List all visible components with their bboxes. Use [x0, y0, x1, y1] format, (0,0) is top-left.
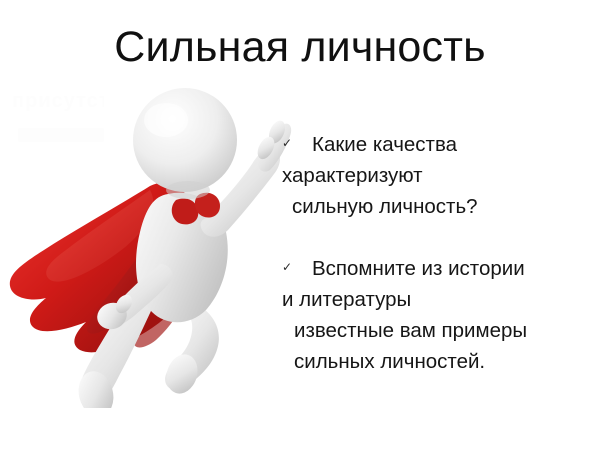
checkmark-bullet-icon: ✓ [282, 128, 312, 159]
head-highlight [144, 103, 188, 137]
bullet-line: характеризуют [282, 160, 594, 191]
bullet-line: и литературы [282, 284, 594, 315]
bullet-line: известные вам примеры [282, 315, 594, 346]
bullet-text: Какие качества [312, 133, 457, 156]
checkmark-bullet-icon: ✓ [282, 252, 312, 283]
page-title: Сильная личность [0, 22, 600, 72]
slide-canvas: присутствует Сильная личность [0, 0, 600, 450]
bullet-list: ✓Какие качества характеризуют сильную ли… [282, 128, 594, 377]
bullet-item-2: ✓Вспомните из истории и литературы извес… [282, 252, 594, 377]
bullet-line: сильных личностей. [282, 346, 594, 377]
bullet-line: ✓Вспомните из истории [282, 252, 594, 284]
bullet-line: сильную личность? [282, 191, 594, 222]
neck-shadow [166, 181, 210, 199]
bullet-line: ✓Какие качества [282, 128, 594, 160]
superhero-3d-figure-illustration [0, 78, 292, 408]
head [133, 88, 237, 192]
bullet-text: Вспомните из истории [312, 257, 525, 280]
bullet-item-1: ✓Какие качества характеризуют сильную ли… [282, 128, 594, 222]
